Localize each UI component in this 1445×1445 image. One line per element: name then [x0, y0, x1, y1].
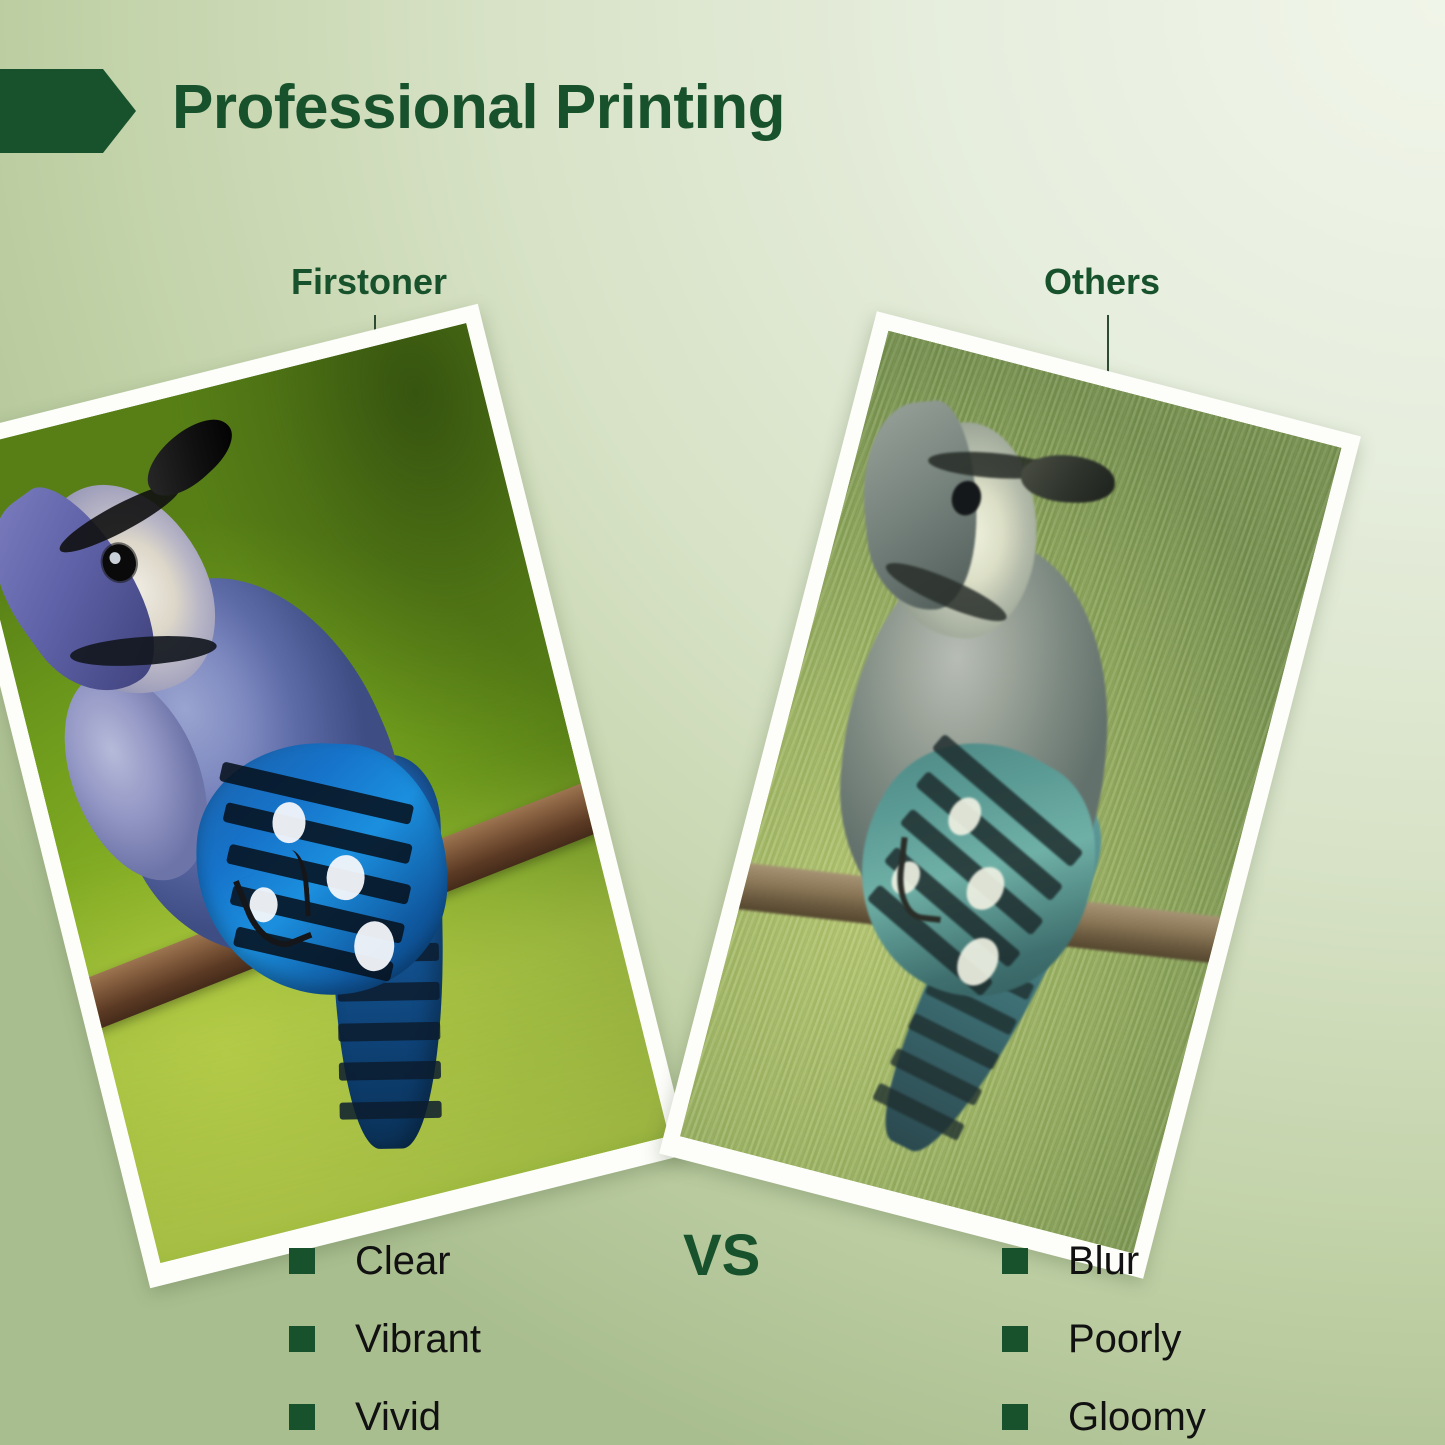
page-title: Professional Printing [172, 72, 785, 143]
list-item: Blur [1002, 1222, 1206, 1300]
feature-label: Poorly [1068, 1317, 1181, 1362]
square-bullet-icon [289, 1404, 315, 1430]
pennant-tab-icon [0, 69, 136, 153]
callout-label-right: Others [1044, 261, 1160, 303]
feature-label: Blur [1068, 1239, 1139, 1284]
square-bullet-icon [289, 1326, 315, 1352]
callout-label-left: Firstoner [291, 261, 447, 303]
list-item: Poorly [1002, 1300, 1206, 1378]
photo-card-left [0, 304, 690, 1288]
feature-list-right: Blur Poorly Gloomy [1002, 1222, 1206, 1445]
square-bullet-icon [1002, 1404, 1028, 1430]
list-item: Vivid [289, 1378, 481, 1445]
square-bullet-icon [1002, 1326, 1028, 1352]
vs-label: VS [683, 1222, 760, 1289]
feature-label: Vibrant [355, 1317, 481, 1362]
list-item: Gloomy [1002, 1378, 1206, 1445]
photo-left-vibrant [0, 323, 669, 1263]
list-item: Vibrant [289, 1300, 481, 1378]
square-bullet-icon [289, 1248, 315, 1274]
square-bullet-icon [1002, 1248, 1028, 1274]
feature-label: Gloomy [1068, 1395, 1206, 1440]
photo-card-right [659, 311, 1361, 1278]
feature-label: Clear [355, 1239, 451, 1284]
feature-label: Vivid [355, 1395, 441, 1440]
list-item: Clear [289, 1222, 481, 1300]
poster-canvas: Professional Printing Firstoner Others [0, 0, 1445, 1445]
feature-list-left: Clear Vibrant Vivid [289, 1222, 481, 1445]
photo-right-washed [680, 331, 1341, 1254]
